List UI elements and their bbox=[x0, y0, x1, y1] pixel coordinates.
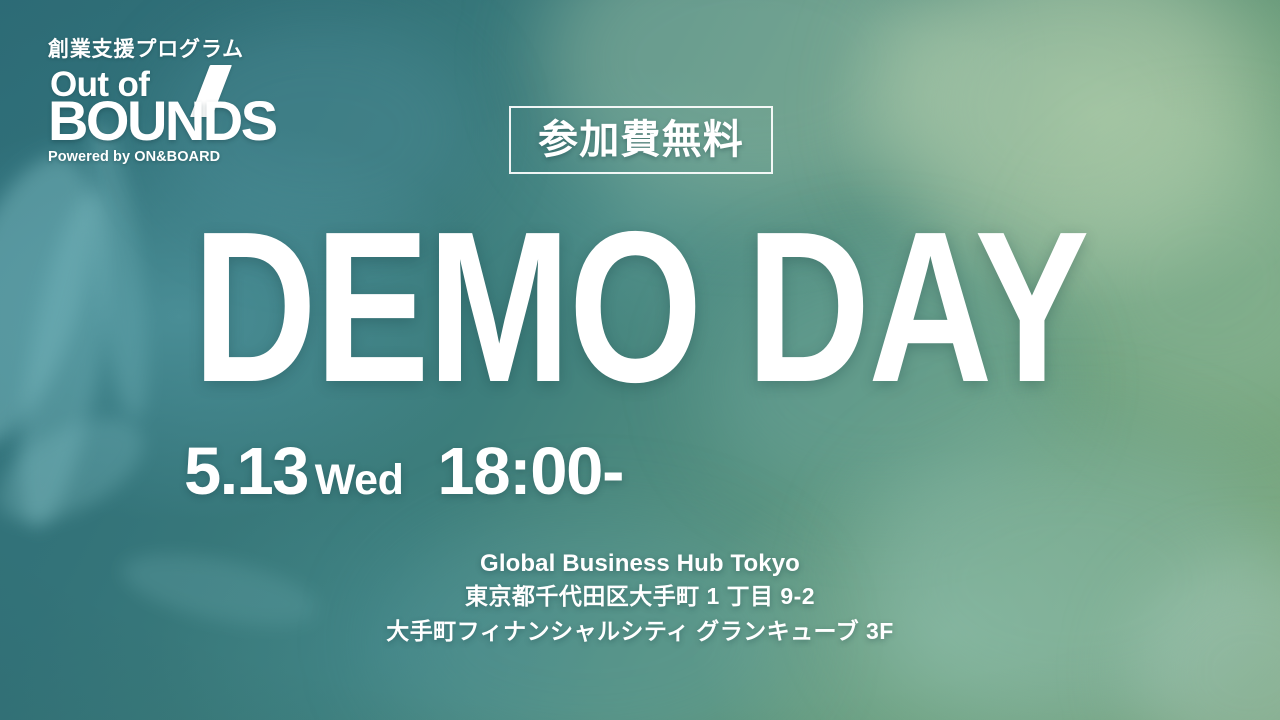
venue-block: Global Business Hub Tokyo 東京都千代田区大手町 1 丁… bbox=[0, 548, 1280, 649]
brand-wordmark: Out of BOUNDS bbox=[48, 67, 378, 145]
free-admission-label: 参加費無料 bbox=[538, 120, 744, 160]
event-time: 18:00- bbox=[437, 438, 623, 505]
event-weekday: Wed bbox=[315, 459, 404, 502]
poster-content: 創業支援プログラム Out of BOUNDS Powered by ON&BO… bbox=[0, 0, 1280, 720]
free-admission-badge: 参加費無料 bbox=[509, 106, 773, 174]
wordmark-main-text: BOUNDS bbox=[48, 93, 276, 149]
event-poster: 創業支援プログラム Out of BOUNDS Powered by ON&BO… bbox=[0, 0, 1280, 720]
brand-logo-block: 創業支援プログラム Out of BOUNDS Powered by ON&BO… bbox=[48, 38, 378, 165]
venue-name: Global Business Hub Tokyo bbox=[0, 548, 1280, 579]
venue-address-line-1: 東京都千代田区大手町 1 丁目 9-2 bbox=[0, 579, 1280, 614]
venue-address-line-2: 大手町フィナンシャルシティ グランキューブ 3F bbox=[0, 614, 1280, 649]
page-title: DEMO DAY bbox=[128, 208, 1152, 406]
program-label: 創業支援プログラム bbox=[48, 38, 378, 61]
event-datetime: 5.13 Wed 18:00- bbox=[184, 438, 623, 505]
event-date: 5.13 bbox=[184, 438, 308, 505]
